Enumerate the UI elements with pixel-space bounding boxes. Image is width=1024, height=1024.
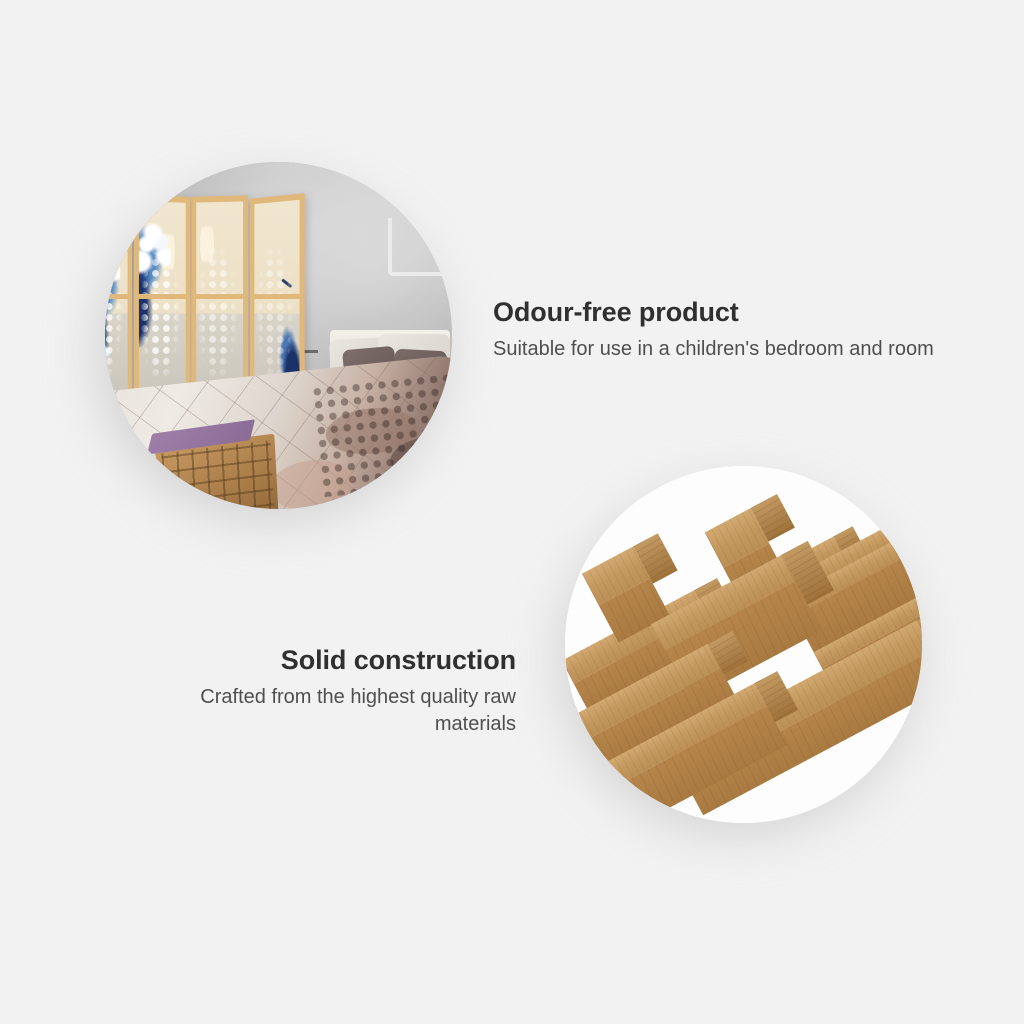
solid-construction-feature-image: [565, 466, 922, 823]
feature-solid-construction-description: Crafted from the highest quality raw mat…: [136, 684, 516, 738]
feature-solid-construction: Solid construction Crafted from the high…: [136, 645, 516, 738]
great-wave-artwork-part-1: [105, 200, 128, 405]
wood-block-left-cube: [582, 546, 650, 605]
infographic-canvas: Odour-free product Suitable for use in a…: [0, 0, 1024, 1024]
screen-panel-1: [105, 193, 132, 411]
feature-odour-free-title: Odour-free product: [493, 297, 934, 328]
basket-weave-texture: [161, 440, 274, 509]
feature-odour-free-description: Suitable for use in a children's bedroom…: [493, 336, 934, 363]
feature-odour-free: Odour-free product Suitable for use in a…: [493, 297, 934, 363]
wooden-beams-scene: [565, 466, 922, 823]
quilt-floral-pattern: [310, 368, 452, 497]
wall-moulding-trim: [388, 218, 444, 276]
wood-block-top-cube: [705, 508, 770, 568]
great-wave-artwork-part-2: [139, 201, 186, 404]
feature-solid-construction-title: Solid construction: [136, 645, 516, 676]
great-wave-artwork-part-3: [196, 201, 243, 403]
screen-panel-2: [134, 195, 191, 409]
bedroom-feature-image: [105, 162, 452, 509]
bedroom-scene: [105, 162, 452, 509]
